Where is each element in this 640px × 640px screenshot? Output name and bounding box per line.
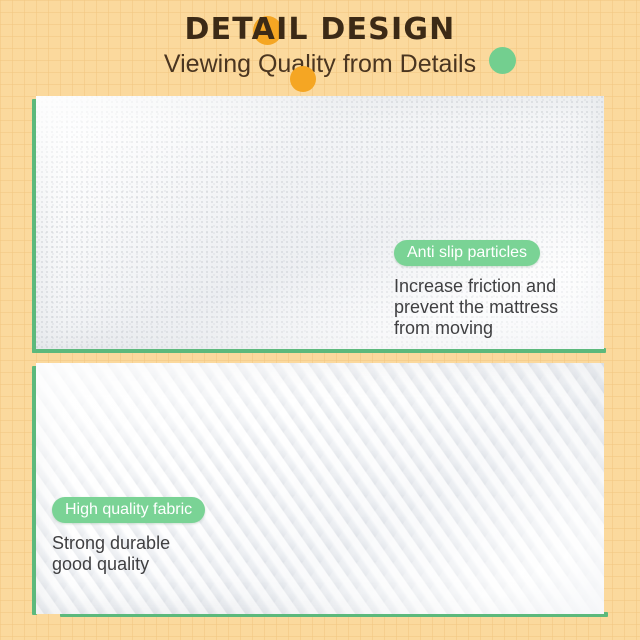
callout-high-quality-fabric-description: Strong durable good quality <box>52 533 292 575</box>
detail-design-infographic: DETAIL DESIGN Viewing Quality from Detai… <box>0 0 640 640</box>
page-subtitle: Viewing Quality from Details <box>0 49 640 79</box>
callout-anti-slip-description: Increase friction and prevent the mattre… <box>394 276 594 339</box>
panel-high-quality-fabric-sheen <box>36 363 604 614</box>
badge-high-quality-fabric: High quality fabric <box>52 497 205 523</box>
header: DETAIL DESIGN Viewing Quality from Detai… <box>0 0 640 92</box>
page-title: DETAIL DESIGN <box>0 13 640 47</box>
callout-anti-slip: Anti slip particles Increase friction an… <box>394 240 594 339</box>
badge-anti-slip-particles: Anti slip particles <box>394 240 540 266</box>
panel-high-quality-fabric-image <box>36 363 604 614</box>
callout-high-quality-fabric: High quality fabric Strong durable good … <box>52 497 292 575</box>
orange-circle-decoration-subtitle <box>290 66 316 92</box>
